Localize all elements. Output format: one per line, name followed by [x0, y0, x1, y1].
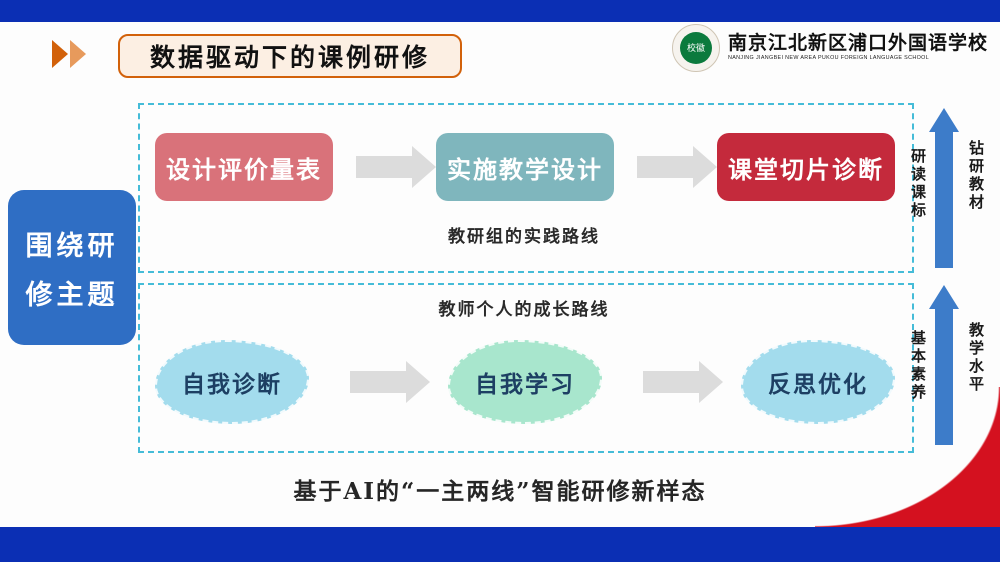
anchor-line-1: 围绕研: [26, 224, 119, 263]
arrow-right-icon: [350, 371, 408, 393]
red-corner-wedge: [815, 387, 1000, 527]
flow-node-self-learning[interactable]: 自我学习: [448, 340, 602, 424]
flow-node-self-diagnosis[interactable]: 自我诊断: [155, 340, 309, 424]
flow-arrow-1: [333, 156, 436, 178]
title-box: 数据驱动下的课例研修: [118, 34, 462, 78]
bottom-accent-bar: [0, 527, 1000, 562]
arrow-right-icon: [643, 371, 701, 393]
flow-arrow-4: [602, 371, 741, 393]
school-name-cn: 南京江北新区浦口外国语学校: [728, 34, 988, 53]
growth-arrow-1-left-label: 研读课标: [908, 148, 929, 220]
chevron-right-icon-2: [70, 40, 86, 68]
crest-inner: 校徽: [680, 32, 712, 64]
school-name-block: 南京江北新区浦口外国语学校 NANJING JIANGBEI NEW AREA …: [728, 34, 988, 61]
flow-node-classroom-diagnosis[interactable]: 课堂切片诊断: [717, 133, 895, 201]
school-name-en: NANJING JIANGBEI NEW AREA PUKOU FOREIGN …: [728, 56, 988, 61]
arrow-shaft: [935, 130, 953, 268]
arrow-right-icon: [637, 156, 695, 178]
top-route-label: 教研组的实践路线: [138, 222, 910, 247]
chevron-right-icon-1: [52, 40, 68, 68]
flow-arrow-2: [614, 156, 717, 178]
slide-canvas: 数据驱动下的课例研修 校徽 南京江北新区浦口外国语学校 NANJING JIAN…: [0, 0, 1000, 562]
top-track-flow: 设计评价量表 实施教学设计 课堂切片诊断: [155, 133, 895, 201]
bottom-track-flow: 自我诊断 自我学习 反思优化: [155, 340, 895, 424]
bottom-route-label: 教师个人的成长路线: [138, 295, 910, 320]
flow-node-design-rubric[interactable]: 设计评价量表: [155, 133, 333, 201]
top-accent-bar: [0, 0, 1000, 22]
arrow-up-icon: [929, 108, 959, 132]
anchor-line-2: 修主题: [26, 273, 119, 312]
theme-anchor-box: 围绕研 修主题: [8, 190, 136, 345]
arrow-right-icon: [356, 156, 414, 178]
growth-arrow-2-right-label: 教学水平: [966, 322, 987, 394]
growth-arrow-up-1: [930, 108, 958, 268]
school-logo: 校徽 南京江北新区浦口外国语学校 NANJING JIANGBEI NEW AR…: [672, 24, 988, 72]
school-crest-icon: 校徽: [672, 24, 720, 72]
growth-arrow-1-right-label: 钻研教材: [966, 140, 987, 212]
flow-node-implement-design[interactable]: 实施教学设计: [436, 133, 614, 201]
page-title: 数据驱动下的课例研修: [150, 38, 430, 74]
double-chevron-icon: [52, 40, 86, 68]
arrow-up-icon: [929, 285, 959, 309]
flow-arrow-3: [309, 371, 448, 393]
